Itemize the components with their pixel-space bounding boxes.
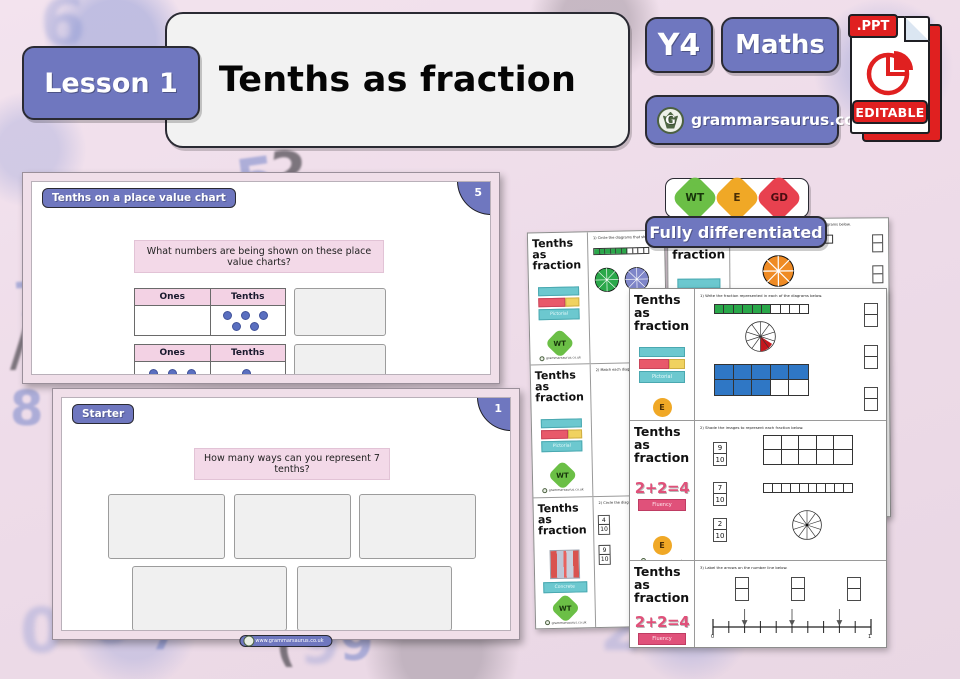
pie-diagram-blank[interactable] [791, 509, 823, 541]
counter [259, 311, 268, 320]
slide-question-banner: What numbers are being shown on these pl… [134, 240, 384, 273]
pv-cell-tenths[interactable] [211, 306, 286, 336]
ppt-filetype-tag: .PPT [848, 14, 898, 38]
worksheet-row[interactable]: Tenths as fraction 2+2=4 Fluency E gramm… [630, 421, 886, 561]
level-badge-wt: WT [551, 335, 568, 352]
fraction-box: 9 10 [598, 545, 610, 565]
counter [187, 369, 196, 375]
rep-bar-part-yellow [669, 359, 685, 369]
fully-differentiated-pill: Fully differentiated [645, 216, 827, 248]
answer-box[interactable] [297, 566, 452, 631]
worksheet-stack-e[interactable]: Tenths as fraction Pictorial E grammarsa… [629, 288, 887, 648]
editable-tag: EDITABLE [852, 100, 928, 124]
place-value-chart-2: Ones Tenths [134, 344, 286, 375]
header-bar: Lesson 1 Tenths as fraction Y4 Maths G g… [0, 0, 960, 160]
fraction-denominator: 10 [714, 494, 726, 505]
slide-number-badge: 5 [457, 181, 491, 215]
answer-box[interactable] [132, 566, 287, 631]
fraction-denominator: 10 [600, 555, 610, 564]
rep-bar-whole [538, 286, 579, 296]
fraction-box-wrap: 7 10 [713, 477, 727, 506]
brand-dot-icon [539, 356, 544, 361]
fraction-numerator: 9 [714, 443, 726, 454]
pv-header-tenths: Tenths [211, 289, 286, 306]
fraction-box[interactable] [872, 234, 883, 252]
worksheet-footer: grammarsaurus.co.uk [545, 619, 587, 625]
badge-e: E [724, 185, 751, 212]
badge-wt-label: WT [685, 192, 704, 204]
worksheet-footer-label: grammarsaurus.co.uk [549, 488, 584, 493]
rep-bar-part-yellow [568, 429, 583, 438]
answer-box[interactable] [234, 494, 351, 559]
tens-grid-diagram-blue [714, 364, 809, 396]
worksheet-title: Tenths as fraction [634, 294, 690, 332]
counter [223, 311, 232, 320]
tens-bar-blank[interactable] [763, 483, 853, 493]
tens-bar-diagram [593, 247, 649, 255]
answer-box[interactable] [108, 494, 225, 559]
brand-logo-letter: G [665, 113, 675, 127]
pv-header-tenths: Tenths [211, 345, 286, 362]
differentiation-badge-strip: WT E GD [665, 178, 809, 218]
rep-bar-part-red [538, 297, 565, 307]
grammarsaurus-logo-icon: G [657, 107, 684, 134]
fraction-prompt-column: 4 10 9 10 [598, 515, 611, 565]
ppt-file-icon: .PPT EDITABLE [848, 14, 948, 146]
fraction-denominator: 10 [714, 454, 726, 465]
pie-diagram-red [744, 320, 777, 353]
pv-header-ones: Ones [135, 289, 211, 306]
counter [250, 322, 259, 331]
number-line-diagram[interactable]: 0 1 [707, 607, 877, 639]
brand-badge[interactable]: G grammarsaurus.co.uk [645, 95, 839, 145]
rep-bar-part-red [541, 429, 568, 439]
fraction-box[interactable] [864, 303, 878, 327]
fraction-denominator: 10 [599, 525, 609, 534]
worksheet-title: Tenths as fraction [634, 426, 690, 464]
slide-footer-label: www.grammarsaurus.co.uk [255, 638, 323, 644]
fluency-title: 2+2=4 [635, 613, 689, 631]
pie-chart-icon [864, 46, 916, 98]
year-group-label: Y4 [658, 28, 701, 63]
rep-type-label: Fluency [638, 499, 686, 511]
rep-bar-whole [541, 418, 582, 428]
rep-bar-parts [538, 297, 579, 307]
worksheet-task: 1) Write the fraction represented in eac… [700, 293, 881, 298]
rep-type-label: Pictorial [639, 371, 685, 383]
rep-type-label: Concrete [543, 581, 587, 593]
subject-badge: Maths [721, 17, 839, 73]
worksheet-footer-label: grammarsaurus.co.uk [546, 356, 581, 361]
slide-tab-title: Starter [72, 404, 134, 424]
counter [168, 369, 177, 375]
rep-bar-whole [639, 347, 685, 357]
lesson-label: Lesson 1 [44, 68, 178, 99]
rep-bar-parts [541, 429, 582, 439]
fraction-denominator: 10 [714, 530, 726, 541]
level-badge-label: WT [553, 340, 566, 348]
tens-grid-blank[interactable] [763, 435, 853, 465]
fraction-box-wrap: 2 10 [713, 513, 727, 542]
level-badge-label: E [659, 403, 664, 412]
fraction-numerator: 9 [599, 546, 609, 555]
rep-bar-whole [677, 278, 720, 288]
slide-canvas: Starter 1 How many ways can you represen… [61, 397, 511, 631]
level-badge-e: E [653, 398, 672, 417]
slide-canvas: Tenths on a place value chart 5 What num… [31, 181, 491, 375]
fraction-box[interactable] [872, 265, 883, 283]
tens-bar-diagram-green [714, 304, 809, 314]
slide-number-label: 5 [474, 186, 482, 199]
rep-type-label: Pictorial [538, 308, 579, 320]
rep-type-label: Fluency [638, 633, 686, 645]
level-badge-e: E [653, 536, 672, 555]
numberline-answer-row [735, 577, 861, 601]
numberline-start-label: 0 [711, 634, 714, 639]
counter [242, 369, 251, 375]
slide-question-banner: How many ways can you represent 7 tenths… [194, 448, 390, 480]
fraction-box: 9 10 [713, 442, 727, 466]
pie-diagram-green [594, 267, 621, 294]
worksheet-row[interactable]: Tenths as fraction Pictorial E grammarsa… [630, 289, 886, 421]
lesson-badge: Lesson 1 [22, 46, 200, 120]
fraction-box[interactable] [735, 577, 749, 601]
numberline-end-label: 1 [868, 634, 871, 639]
fraction-numerator: 2 [714, 519, 726, 530]
fraction-box-wrap: 9 10 [713, 437, 727, 466]
worksheet-title: Tenths as fraction [535, 369, 587, 404]
worksheet-title: Tenths as fraction [634, 566, 690, 604]
worksheet-row[interactable]: Tenths as fraction 2+2=4 Fluency E gramm… [630, 561, 886, 647]
rep-bar-part-red [639, 359, 669, 369]
concrete-representation-image [549, 549, 580, 579]
answer-box[interactable] [294, 344, 386, 375]
worksheet-footer-label: grammarsaurus.co.uk [552, 620, 587, 625]
bg-glyph: 8 [10, 385, 43, 433]
fraction-numerator: 4 [599, 516, 609, 525]
counter [232, 322, 241, 331]
subject-label: Maths [735, 30, 825, 60]
page-title: Tenths as fraction [219, 60, 576, 100]
worksheet-task: 2) Shade the images to represent each fr… [700, 425, 881, 430]
slide-footer-badge[interactable]: www.grammarsaurus.co.uk [239, 635, 332, 647]
fraction-box: 7 10 [713, 482, 727, 506]
worksheet-footer: grammarsaurus.co.uk [539, 355, 581, 361]
fluency-title: 2+2=4 [635, 479, 689, 497]
level-badge-label: WT [559, 604, 572, 612]
level-badge-wt: WT [554, 467, 571, 484]
level-badge-label: E [659, 541, 664, 550]
slide-question-text: How many ways can you represent 7 tenths… [201, 453, 383, 475]
level-badge-label: WT [556, 472, 569, 480]
pv-cell-ones[interactable] [135, 306, 211, 336]
slide-starter[interactable]: Starter 1 How many ways can you represen… [52, 388, 520, 640]
badge-gd-label: GD [771, 192, 788, 204]
title-card: Tenths as fraction [165, 12, 630, 148]
counter [241, 311, 250, 320]
place-value-chart-1: Ones Tenths [134, 288, 286, 336]
counter [149, 369, 158, 375]
badge-gd: GD [766, 185, 793, 212]
brand-dot-icon [545, 620, 550, 625]
level-badge-wt: WT [557, 600, 574, 617]
year-group-badge: Y4 [645, 17, 713, 73]
fraction-box[interactable] [864, 387, 878, 411]
worksheet-title: Tenths as fraction [538, 502, 590, 537]
pv-cell-tenths[interactable] [211, 362, 286, 375]
slide-number-label: 1 [494, 402, 502, 415]
rep-bar-parts [639, 359, 685, 369]
worksheet-task: 3) Label the arrows on the number line b… [700, 565, 881, 570]
badge-e-label: E [733, 192, 740, 204]
rep-bar-part-yellow [565, 297, 580, 306]
slide-number-badge: 1 [477, 397, 511, 431]
badge-wt: WT [681, 185, 708, 212]
pv-header-ones: Ones [135, 345, 211, 362]
slide-tenths-place-value-chart[interactable]: Tenths on a place value chart 5 What num… [22, 172, 500, 384]
fully-differentiated-label: Fully differentiated [649, 223, 822, 242]
fraction-box: 2 10 [713, 518, 727, 542]
brand-dot-icon [542, 488, 547, 493]
answer-box[interactable] [294, 288, 386, 336]
fraction-answer-column [864, 303, 878, 411]
worksheet-title: Tenths as fraction [532, 237, 584, 272]
fraction-box[interactable] [791, 577, 805, 601]
fraction-box: 4 10 [598, 515, 610, 535]
pie-diagram-orange [761, 254, 795, 288]
rep-type-label: Pictorial [541, 440, 582, 452]
fraction-numerator: 7 [714, 483, 726, 494]
pv-cell-ones[interactable] [135, 362, 211, 375]
ppt-icon-page-fold [904, 16, 930, 42]
worksheet-footer: grammarsaurus.co.uk [542, 487, 584, 493]
slide-question-text: What numbers are being shown on these pl… [141, 246, 377, 268]
slide-tab-title: Tenths on a place value chart [42, 188, 236, 208]
fraction-box[interactable] [864, 345, 878, 369]
fraction-box[interactable] [847, 577, 861, 601]
answer-box[interactable] [359, 494, 476, 559]
